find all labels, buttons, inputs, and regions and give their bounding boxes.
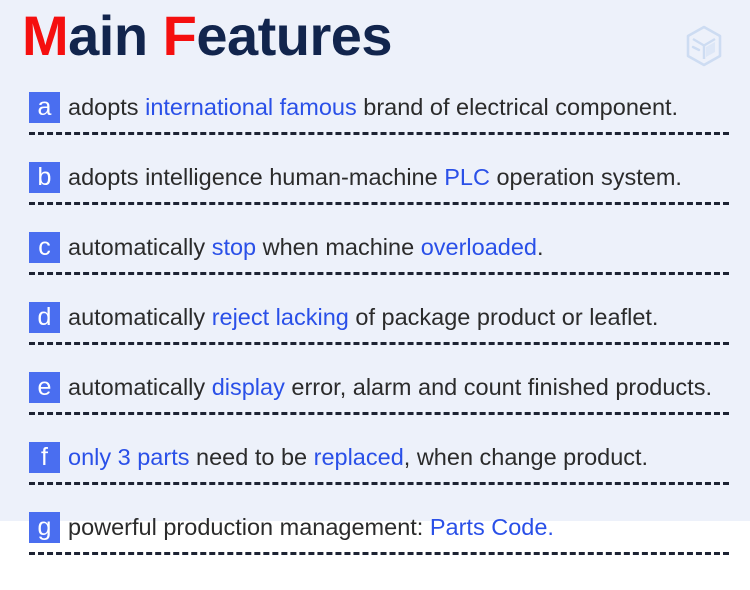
feature-text-plain: .	[537, 234, 544, 260]
page-title-accent-m: M	[22, 4, 68, 67]
row-divider	[29, 482, 729, 485]
row-divider	[29, 132, 729, 135]
feature-text-highlight: overloaded	[421, 234, 537, 260]
feature-slide: Main Features aadopts international famo…	[0, 0, 750, 590]
row-divider	[29, 342, 729, 345]
feature-text-highlight: international famous	[145, 94, 357, 120]
feature-text-highlight: PLC	[444, 164, 490, 190]
feature-text-plain: automatically	[68, 304, 212, 330]
feature-row: badopts intelligence human-machine PLC o…	[0, 155, 750, 225]
feature-text: automatically stop when machine overload…	[68, 229, 742, 265]
row-divider	[29, 412, 729, 415]
feature-badge: b	[29, 162, 60, 193]
feature-list: aadopts international famous brand of el…	[0, 85, 750, 575]
page-title-part-2: eatures	[196, 4, 392, 67]
feature-text: powerful production management: Parts Co…	[68, 509, 742, 545]
feature-text-highlight: only 3 parts	[68, 444, 189, 470]
feature-text-highlight: Parts Code.	[430, 514, 554, 540]
feature-text-plain: automatically	[68, 374, 212, 400]
feature-badge: e	[29, 372, 60, 403]
feature-text-plain: need to be	[189, 444, 313, 470]
feature-badge: f	[29, 442, 60, 473]
feature-text-plain: operation system.	[490, 164, 682, 190]
feature-text: adopts intelligence human-machine PLC op…	[68, 159, 742, 195]
feature-badge: a	[29, 92, 60, 123]
feature-row: fonly 3 parts need to be replaced, when …	[0, 435, 750, 505]
feature-text-plain: of package product or leaflet.	[349, 304, 659, 330]
row-divider	[29, 202, 729, 205]
page-title: Main Features	[22, 8, 392, 64]
feature-badge: g	[29, 512, 60, 543]
feature-text-highlight: stop	[212, 234, 256, 260]
cube-3d-icon	[682, 24, 726, 68]
feature-row: cautomatically stop when machine overloa…	[0, 225, 750, 295]
feature-row: dautomatically reject lacking of package…	[0, 295, 750, 365]
feature-text-plain: automatically	[68, 234, 212, 260]
feature-row: eautomatically display error, alarm and …	[0, 365, 750, 435]
feature-text-highlight: reject lacking	[212, 304, 349, 330]
feature-text: only 3 parts need to be replaced, when c…	[68, 439, 742, 475]
feature-text-plain: , when change product.	[404, 444, 648, 470]
row-divider	[29, 552, 729, 555]
feature-text: adopts international famous brand of ele…	[68, 89, 742, 125]
feature-text-plain: adopts	[68, 94, 145, 120]
page-title-accent-f: F	[163, 4, 197, 67]
feature-text-plain: powerful production management:	[68, 514, 430, 540]
slide-header: Main Features	[0, 0, 750, 85]
row-divider	[29, 272, 729, 275]
feature-row: aadopts international famous brand of el…	[0, 85, 750, 155]
feature-text-plain: error, alarm and count finished products…	[285, 374, 712, 400]
feature-text-plain: when machine	[256, 234, 421, 260]
feature-text-plain: adopts intelligence human-machine	[68, 164, 444, 190]
feature-text: automatically reject lacking of package …	[68, 299, 742, 335]
feature-badge: c	[29, 232, 60, 263]
feature-text-highlight: display	[212, 374, 285, 400]
feature-text-highlight: replaced	[314, 444, 404, 470]
feature-text: automatically display error, alarm and c…	[68, 369, 742, 405]
page-title-part-1: ain	[68, 4, 162, 67]
feature-badge: d	[29, 302, 60, 333]
feature-row: gpowerful production management: Parts C…	[0, 505, 750, 575]
feature-text-plain: brand of electrical component.	[357, 94, 678, 120]
